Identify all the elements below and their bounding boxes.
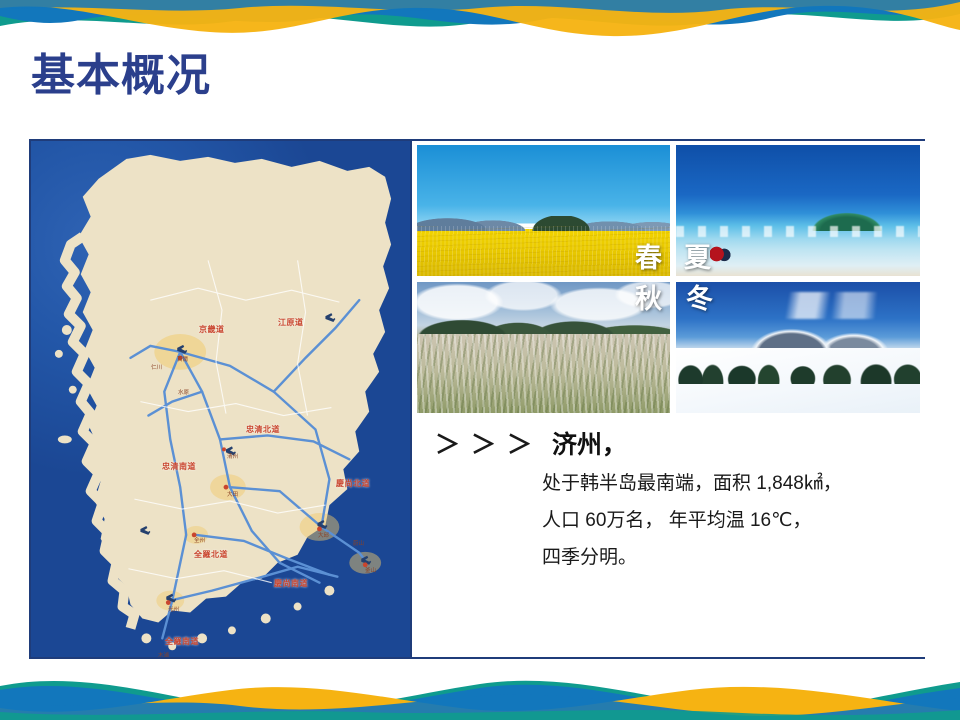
body-line-3: 四季分明。 <box>542 548 909 567</box>
wave-yellow-shape <box>0 687 960 720</box>
map-province-label: 慶尚南道 <box>274 578 308 589</box>
bottom-wave-svg <box>0 656 960 720</box>
map-province-label: 江原道 <box>278 317 304 328</box>
page-title: 基本概况 <box>31 54 211 98</box>
summer-beachgoers <box>710 245 732 263</box>
photo-winter[interactable]: 冬 <box>673 279 923 416</box>
map-mainland-shape <box>79 155 391 623</box>
body-line-2: 人口 60万名， 年平均温 16℃， <box>542 511 909 530</box>
map-island <box>58 435 72 443</box>
map-province-label: 慶尚北道 <box>336 478 370 489</box>
wave-teal-shape <box>0 681 960 720</box>
map-island <box>294 603 302 611</box>
map-island <box>62 325 72 335</box>
description-text-block: ＞ ＞ ＞ 济州， 处于韩半岛最南端，面积 1,848㎢， 人口 60万名， 年… <box>414 421 923 585</box>
body-line-1: 处于韩半岛最南端，面积 1,848㎢， <box>542 474 909 493</box>
map-island <box>261 613 271 623</box>
map-province-label: 全羅北道 <box>194 549 228 560</box>
map-city-label: 木浦 <box>158 651 169 657</box>
map-city-label: 釜山 <box>365 566 376 574</box>
map-city-label: 水原 <box>178 388 189 396</box>
map-city-label: 蔚山 <box>353 539 364 547</box>
map-city-label: 清州 <box>227 452 238 460</box>
photo-autumn[interactable]: 秋 <box>414 279 673 416</box>
map-province-label: 全羅南道 <box>165 636 199 647</box>
wave-blue-shape-2 <box>0 0 960 13</box>
wave-teal-shape-2 <box>0 710 960 720</box>
wave-blue-shape-2 <box>0 695 960 720</box>
headline-text: 济州， <box>552 433 627 458</box>
map-island <box>141 633 151 643</box>
summer-surf <box>676 226 920 236</box>
map-city-label: 大邱 <box>318 531 329 539</box>
map-city-label: 全州 <box>194 536 205 544</box>
map-city-label: 大田 <box>227 490 238 498</box>
map-island <box>55 350 63 358</box>
korea-map-panel[interactable]: 京畿道江原道忠清北道忠清南道慶尚北道全羅北道慶尚南道全羅南道 首爾仁川水原大田清… <box>31 141 412 657</box>
map-landmass-svg <box>31 141 410 654</box>
season-tag-spring: 春 <box>635 245 662 272</box>
winter-clouds <box>774 292 920 318</box>
winter-trees <box>676 345 920 384</box>
wave-teal-shape <box>0 0 960 27</box>
photo-spring[interactable]: 春 <box>414 142 673 279</box>
headline-row: ＞ ＞ ＞ 济州， <box>435 433 909 458</box>
content-frame: 京畿道江原道忠清北道忠清南道慶尚北道全羅北道慶尚南道全羅南道 首爾仁川水原大田清… <box>29 139 925 659</box>
top-wave-decoration <box>0 0 960 46</box>
chevron-icon-3: ＞ <box>507 433 532 458</box>
chevron-icon-2: ＞ <box>471 433 496 458</box>
map-province-label: 忠清南道 <box>162 461 196 472</box>
autumn-silver-grass <box>417 334 670 413</box>
map-province-label: 京畿道 <box>199 324 225 335</box>
bottom-wave-decoration <box>0 656 960 720</box>
wave-blue-shape <box>0 685 960 720</box>
chevron-icon-1: ＞ <box>435 433 460 458</box>
top-wave-svg <box>0 0 960 46</box>
map-island <box>228 626 236 634</box>
season-tag-summer: 夏 <box>684 245 711 272</box>
wave-yellow-shape <box>0 0 960 36</box>
season-tag-autumn: 秋 <box>635 286 662 313</box>
slide-canvas: 基本概况 <box>0 0 960 720</box>
map-province-label: 忠清北道 <box>246 424 280 435</box>
season-photo-grid: 春 夏 秋 <box>414 142 923 416</box>
map-city-label: 仁川 <box>151 363 162 371</box>
map-island <box>69 386 77 394</box>
right-content-panel: 春 夏 秋 <box>414 141 925 657</box>
photo-summer[interactable]: 夏 <box>673 142 923 279</box>
map-city-label: 光州 <box>168 605 179 613</box>
season-tag-winter: 冬 <box>686 286 713 313</box>
spring-canola-field <box>417 226 670 276</box>
wave-blue-shape <box>0 0 960 25</box>
map-island <box>324 586 334 596</box>
map-city-label: 首爾 <box>177 355 188 363</box>
